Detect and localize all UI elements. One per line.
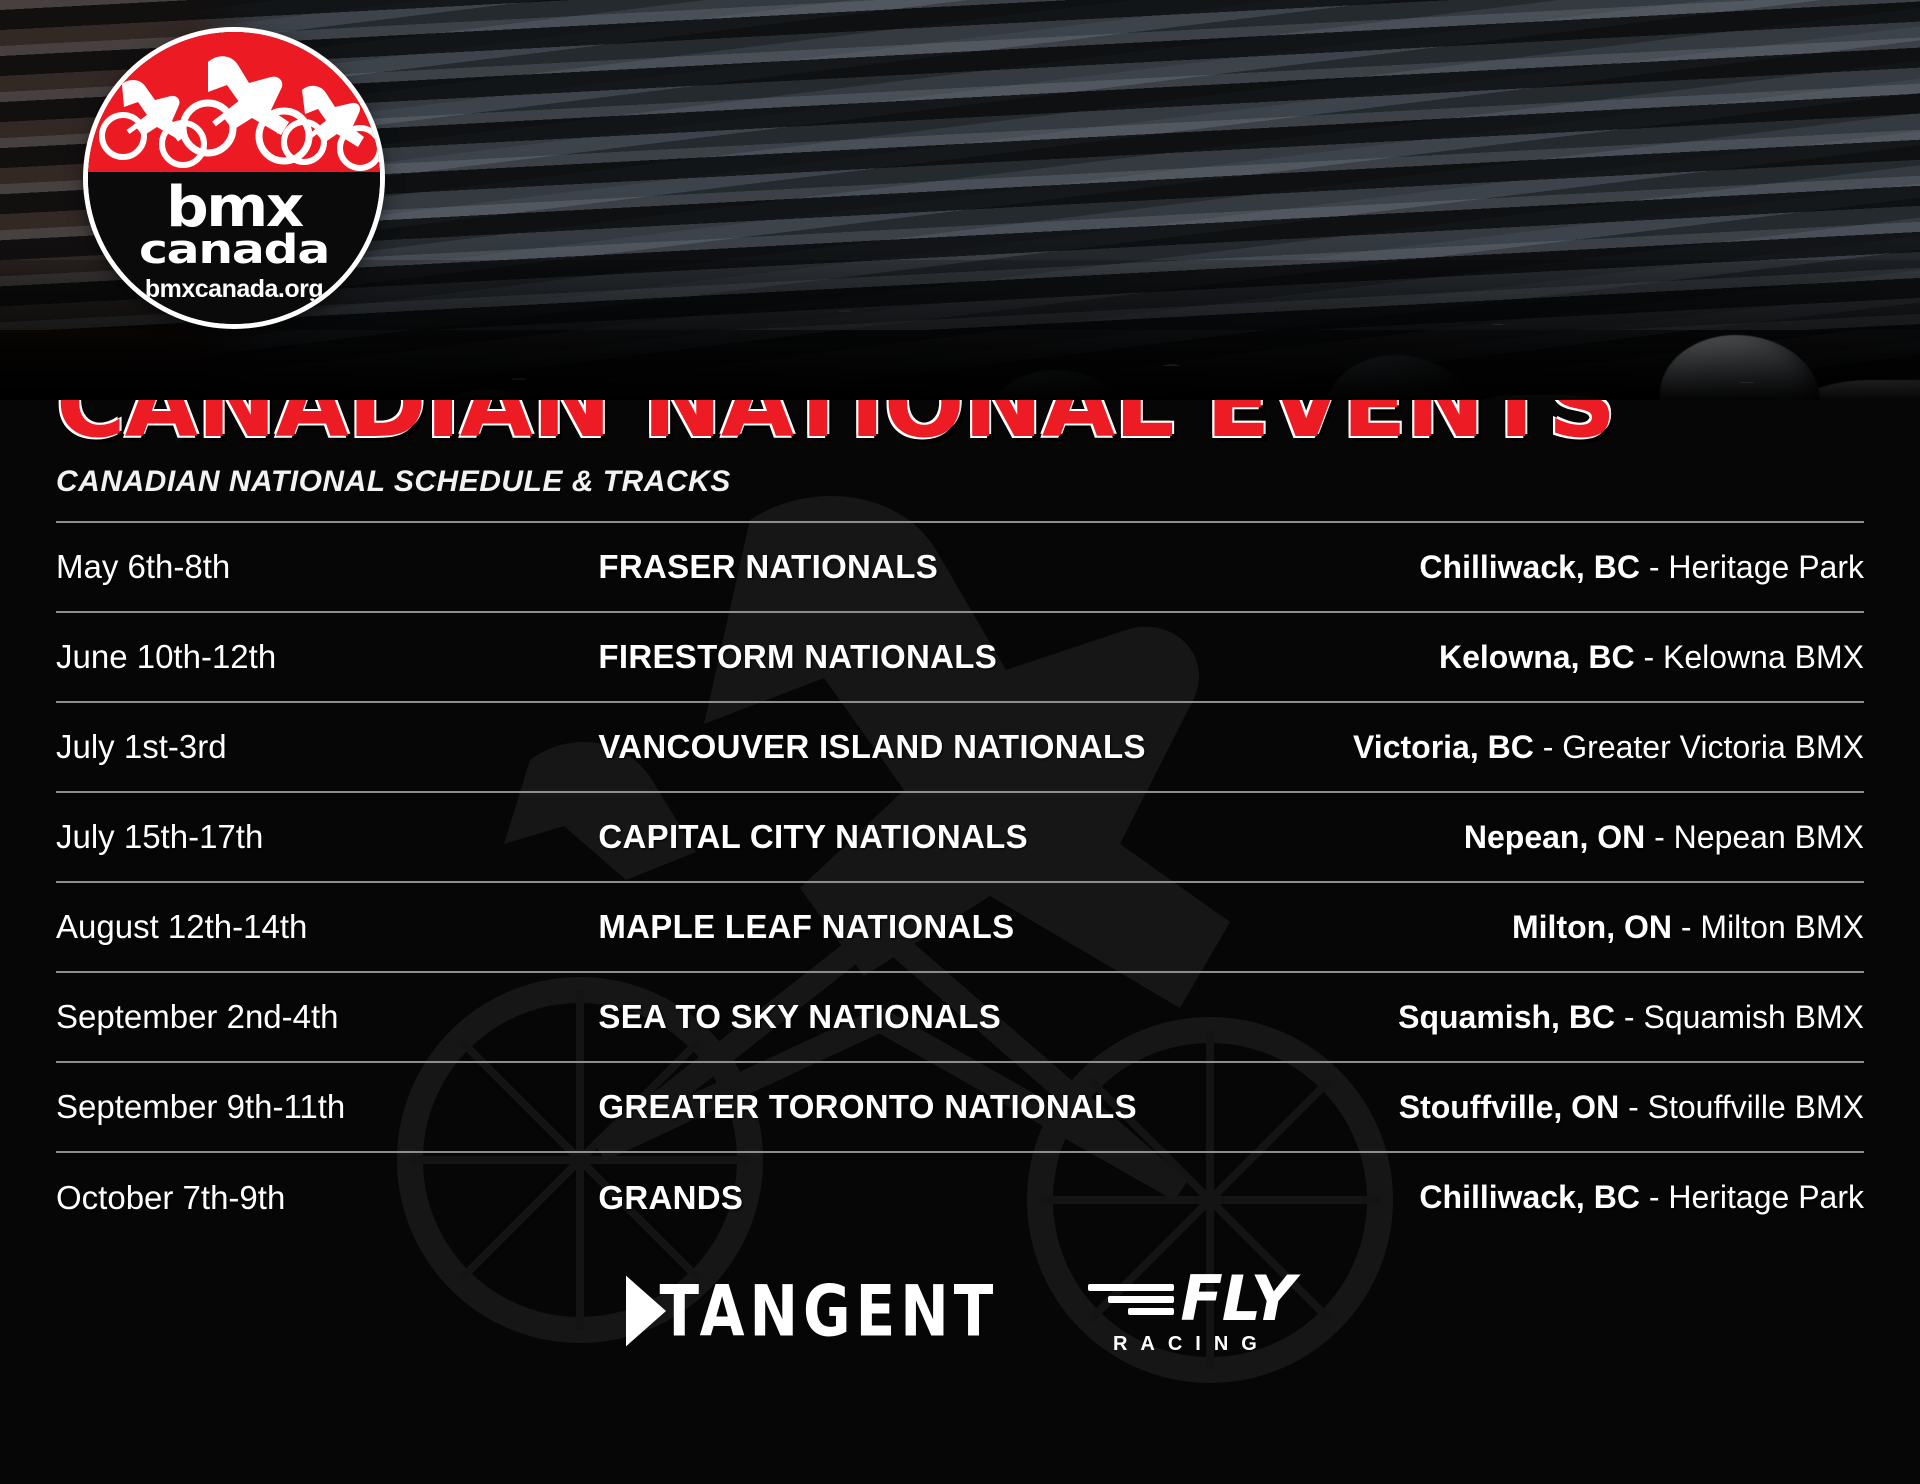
event-city: Nepean, ON	[1464, 819, 1645, 855]
event-date: July 1st-3rd	[56, 702, 598, 792]
event-track: Heritage Park	[1668, 549, 1864, 585]
event-location: Kelowna, BC - Kelowna BMX	[1249, 612, 1864, 702]
event-date: May 6th-8th	[56, 522, 598, 612]
event-track: Stouffville BMX	[1648, 1089, 1864, 1125]
tangent-logo: TANGENT	[626, 1270, 999, 1353]
event-name: GRANDS	[598, 1152, 1249, 1242]
event-city: Victoria, BC	[1353, 729, 1534, 765]
event-sep: -	[1640, 1179, 1668, 1215]
tangent-label: TANGENT	[660, 1270, 999, 1353]
event-location: Chilliwack, BC - Heritage Park	[1249, 522, 1864, 612]
event-date: August 12th-14th	[56, 882, 598, 972]
event-name: FRASER NATIONALS	[598, 522, 1249, 612]
event-track: Milton BMX	[1700, 909, 1864, 945]
event-city: Kelowna, BC	[1439, 639, 1635, 675]
event-sep: -	[1615, 999, 1643, 1035]
event-date: July 15th-17th	[56, 792, 598, 882]
fly-label: FLY	[1180, 1268, 1294, 1330]
table-row: May 6th-8thFRASER NATIONALSChilliwack, B…	[56, 522, 1864, 612]
event-location: Nepean, ON - Nepean BMX	[1249, 792, 1864, 882]
event-location: Victoria, BC - Greater Victoria BMX	[1249, 702, 1864, 792]
page-subtitle: CANADIAN NATIONAL SCHEDULE & TRACKS	[56, 465, 1864, 499]
event-name: GREATER TORONTO NATIONALS	[598, 1062, 1249, 1152]
event-track: Kelowna BMX	[1663, 639, 1864, 675]
event-track: Squamish BMX	[1643, 999, 1864, 1035]
event-sep: -	[1645, 819, 1673, 855]
logo-wordmark: bmx canada bmxcanada.org	[88, 182, 380, 301]
event-sep: -	[1672, 909, 1700, 945]
event-city: Milton, ON	[1512, 909, 1672, 945]
event-city: Chilliwack, BC	[1419, 1179, 1640, 1215]
event-date: September 2nd-4th	[56, 972, 598, 1062]
table-row: August 12th-14thMAPLE LEAF NATIONALSMilt…	[56, 882, 1864, 972]
event-city: Chilliwack, BC	[1419, 549, 1640, 585]
event-location: Squamish, BC - Squamish BMX	[1249, 972, 1864, 1062]
event-city: Stouffville, ON	[1399, 1089, 1619, 1125]
bmx-canada-logo: bmx canada bmxcanada.org	[88, 32, 380, 324]
event-sep: -	[1640, 549, 1668, 585]
schedule-content: CANADIAN NATIONAL EVENTS CANADIAN NATION…	[0, 400, 1920, 1242]
event-name: FIRESTORM NATIONALS	[598, 612, 1249, 702]
event-track: Nepean BMX	[1674, 819, 1864, 855]
fly-speed-bars-icon	[1088, 1284, 1174, 1315]
event-track: Greater Victoria BMX	[1562, 729, 1864, 765]
event-name: VANCOUVER ISLAND NATIONALS	[598, 702, 1249, 792]
event-sep: -	[1619, 1089, 1647, 1125]
logo-brand-line2: canada	[88, 232, 380, 269]
fly-sub-label: RACING	[1088, 1334, 1294, 1354]
event-location: Milton, ON - Milton BMX	[1249, 882, 1864, 972]
table-row: June 10th-12thFIRESTORM NATIONALSKelowna…	[56, 612, 1864, 702]
national-events-table: May 6th-8thFRASER NATIONALSChilliwack, B…	[56, 521, 1864, 1242]
event-date: October 7th-9th	[56, 1152, 598, 1242]
event-name: CAPITAL CITY NATIONALS	[598, 792, 1249, 882]
table-row: September 2nd-4thSEA TO SKY NATIONALSSqu…	[56, 972, 1864, 1062]
event-sep: -	[1635, 639, 1663, 675]
table-row: September 9th-11thGREATER TORONTO NATION…	[56, 1062, 1864, 1152]
page-title: CANADIAN NATIONAL EVENTS	[56, 400, 1900, 451]
table-row: July 15th-17thCAPITAL CITY NATIONALSNepe…	[56, 792, 1864, 882]
event-sep: -	[1534, 729, 1562, 765]
fly-racing-logo: FLY RACING	[1088, 1268, 1294, 1354]
event-name: SEA TO SKY NATIONALS	[598, 972, 1249, 1062]
table-row: October 7th-9thGRANDSChilliwack, BC - He…	[56, 1152, 1864, 1242]
event-date: September 9th-11th	[56, 1062, 598, 1152]
event-date: June 10th-12th	[56, 612, 598, 702]
sponsor-row: TANGENT FLY RACING	[0, 1268, 1920, 1354]
event-location: Stouffville, ON - Stouffville BMX	[1249, 1062, 1864, 1152]
event-city: Squamish, BC	[1398, 999, 1615, 1035]
logo-url: bmxcanada.org	[88, 278, 380, 301]
event-track: Heritage Park	[1668, 1179, 1864, 1215]
table-row: July 1st-3rdVANCOUVER ISLAND NATIONALSVi…	[56, 702, 1864, 792]
event-name: MAPLE LEAF NATIONALS	[598, 882, 1249, 972]
schedule-sheet: CANADIAN NATIONAL EVENTS CANADIAN NATION…	[0, 400, 1920, 1484]
event-location: Chilliwack, BC - Heritage Park	[1249, 1152, 1864, 1242]
fly-wing-icon: FLY	[1088, 1268, 1294, 1330]
